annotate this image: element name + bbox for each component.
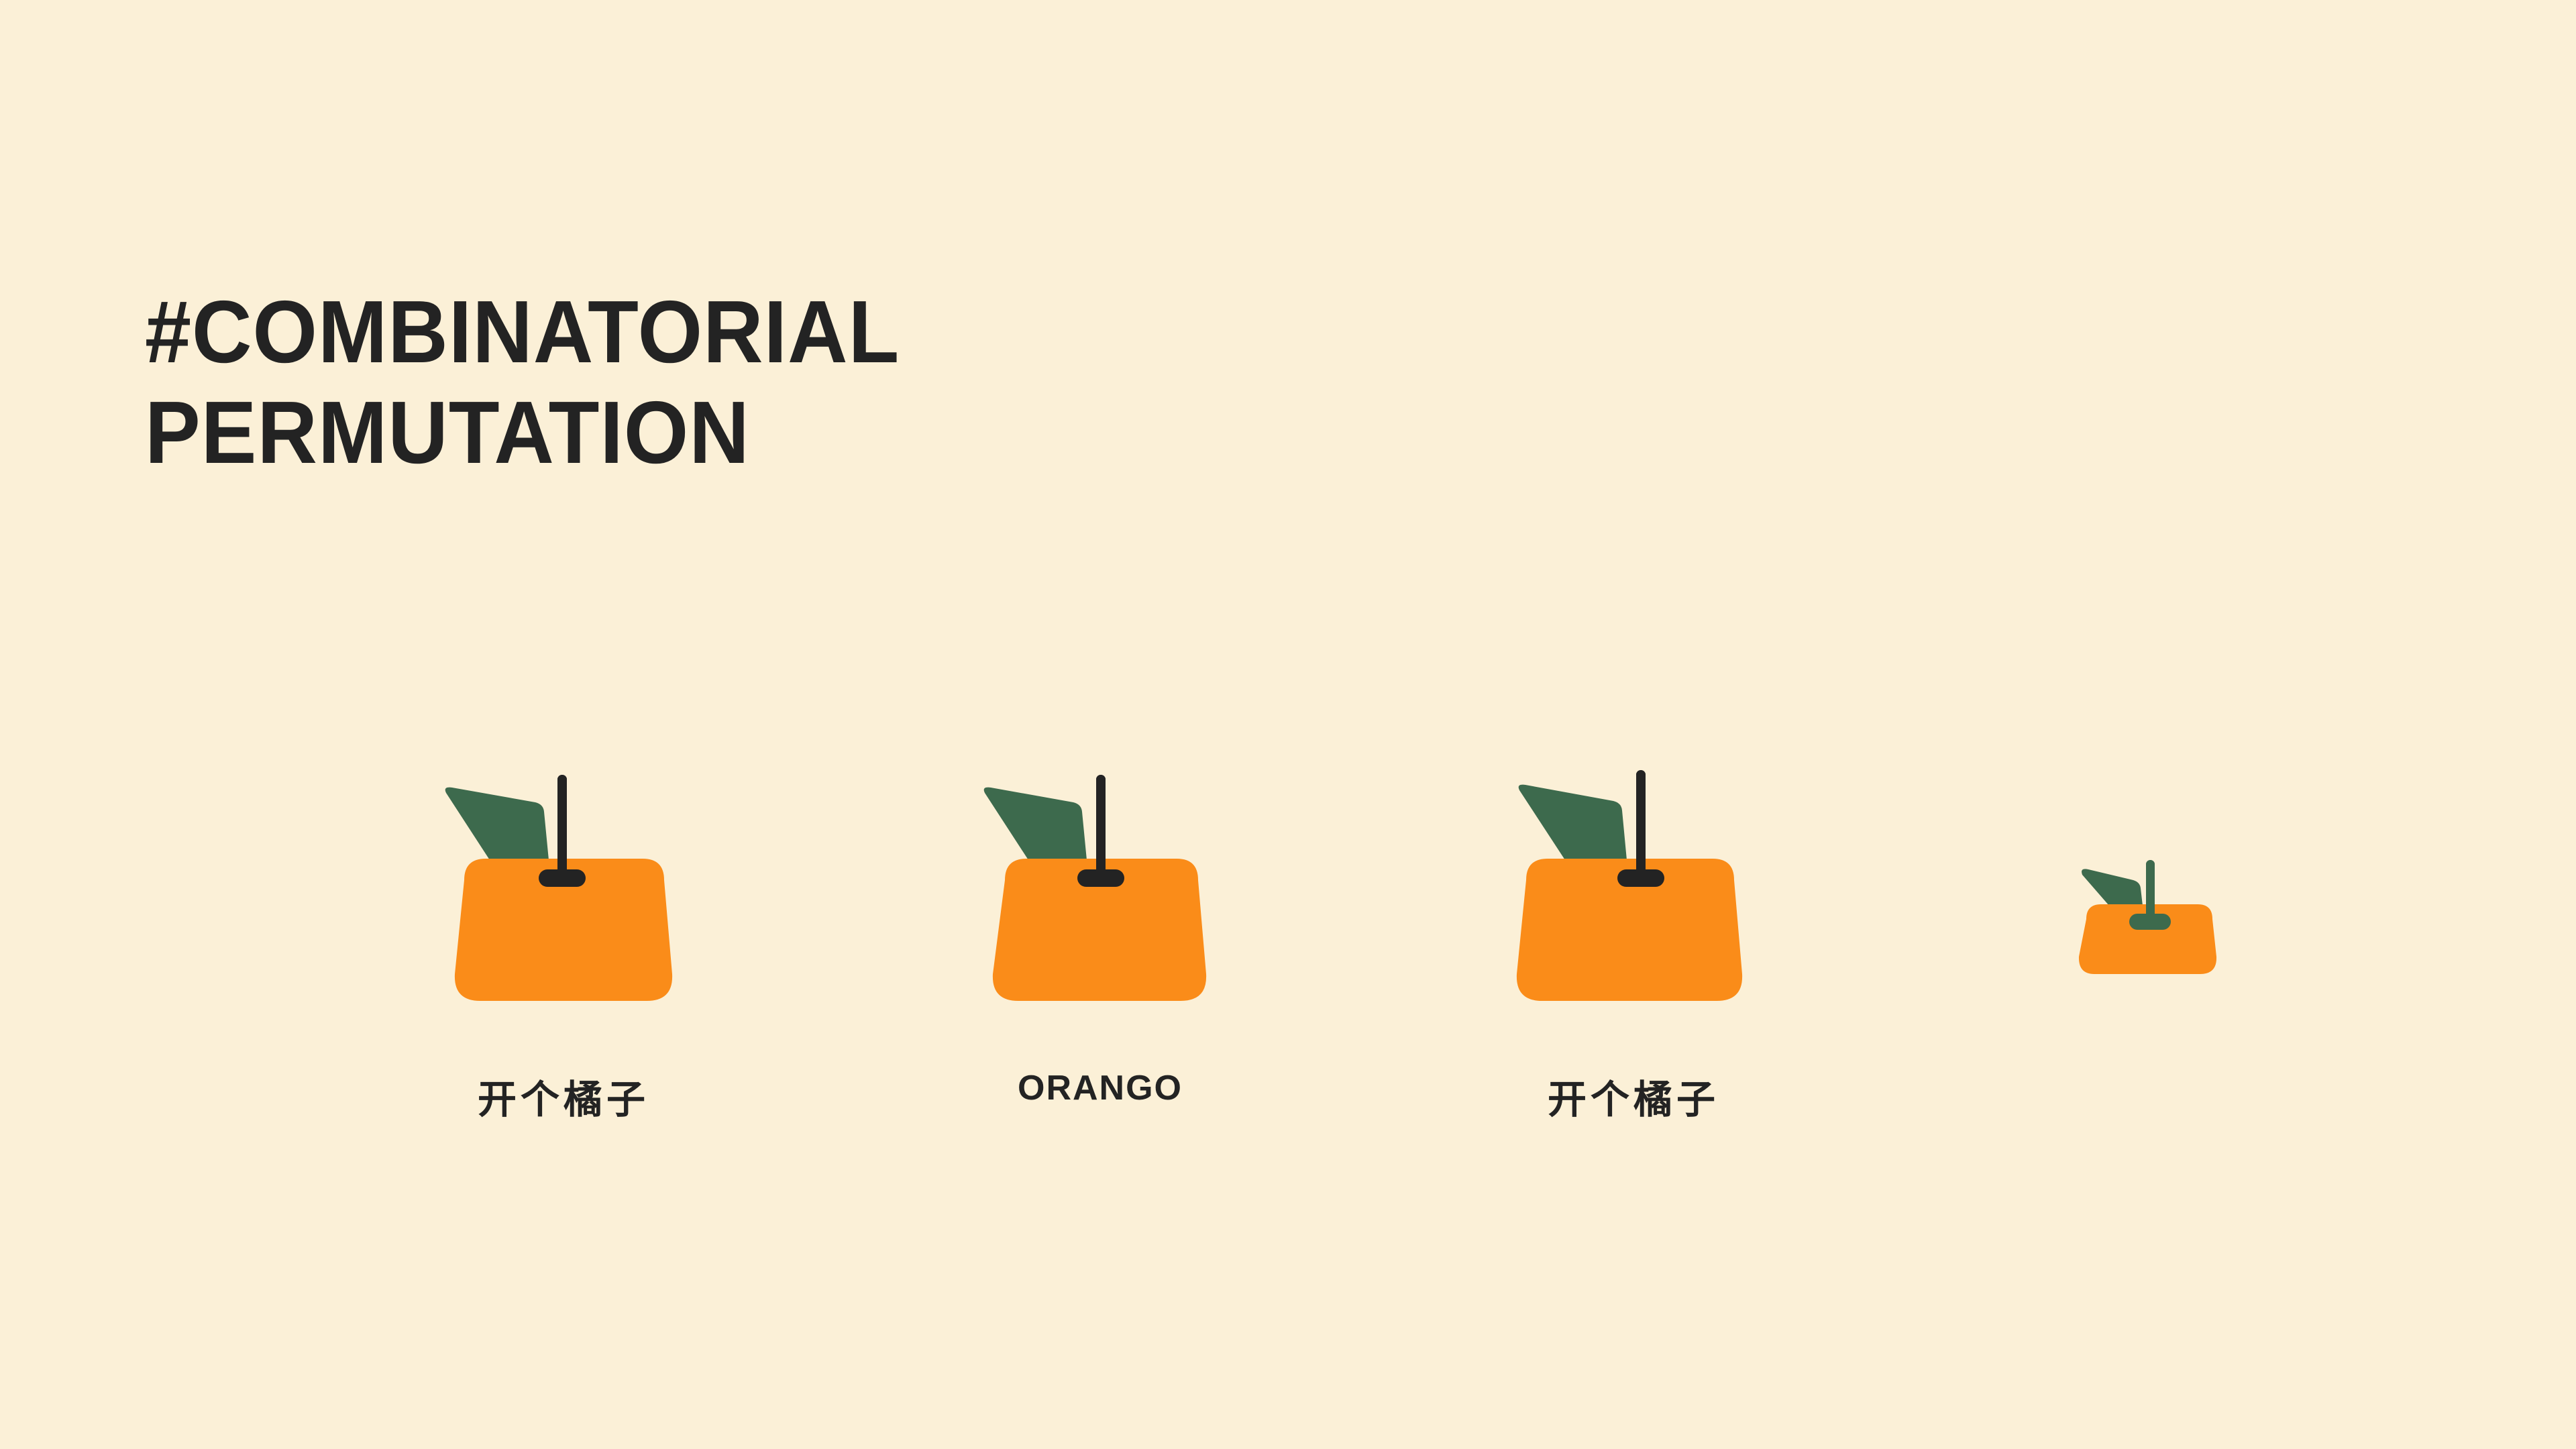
- page-title-line-1: #COMBINATORIAL: [145, 282, 1154, 382]
- orange-label-1: 开个橘子: [416, 1068, 711, 1124]
- stem-icon-overlay: [2146, 860, 2155, 920]
- leaf-icon: [1519, 785, 1627, 860]
- stem-crossbar-icon-overlay: [2129, 914, 2171, 930]
- poster-canvas: #COMBINATORIAL PERMUTATION 开个橘子: [0, 0, 2576, 1449]
- orange-label-3: 开个橘子: [1486, 1068, 1781, 1124]
- orange-illustration-1: [416, 738, 711, 1020]
- orange-illustration-row: 开个橘子 ORANGO 开个橘子: [0, 738, 2576, 1207]
- leaf-icon: [445, 788, 549, 860]
- orange-item-1[interactable]: 开个橘子: [416, 738, 711, 1207]
- page-title: #COMBINATORIAL PERMUTATION: [145, 282, 1218, 483]
- leaf-icon: [2082, 869, 2143, 906]
- leaf-icon: [984, 788, 1087, 860]
- orange-label-2: ORANGO: [953, 1068, 1248, 1108]
- stem-crossbar-icon-overlay: [1077, 869, 1124, 887]
- stem-icon-overlay: [1096, 775, 1106, 875]
- stem-crossbar-icon-overlay: [539, 869, 586, 887]
- orange-illustration-4: [2053, 738, 2254, 1020]
- orange-item-3[interactable]: 开个橘子: [1486, 738, 1781, 1207]
- orange-illustration-3: [1486, 738, 1781, 1020]
- stem-icon-overlay: [557, 775, 567, 875]
- stem-icon-overlay: [1636, 770, 1646, 876]
- page-title-line-2: PERMUTATION: [145, 382, 1154, 483]
- orange-illustration-2: [953, 738, 1248, 1020]
- orange-item-4[interactable]: [2053, 738, 2254, 1207]
- stem-crossbar-icon-overlay: [1617, 869, 1664, 887]
- orange-item-2[interactable]: ORANGO: [953, 738, 1248, 1207]
